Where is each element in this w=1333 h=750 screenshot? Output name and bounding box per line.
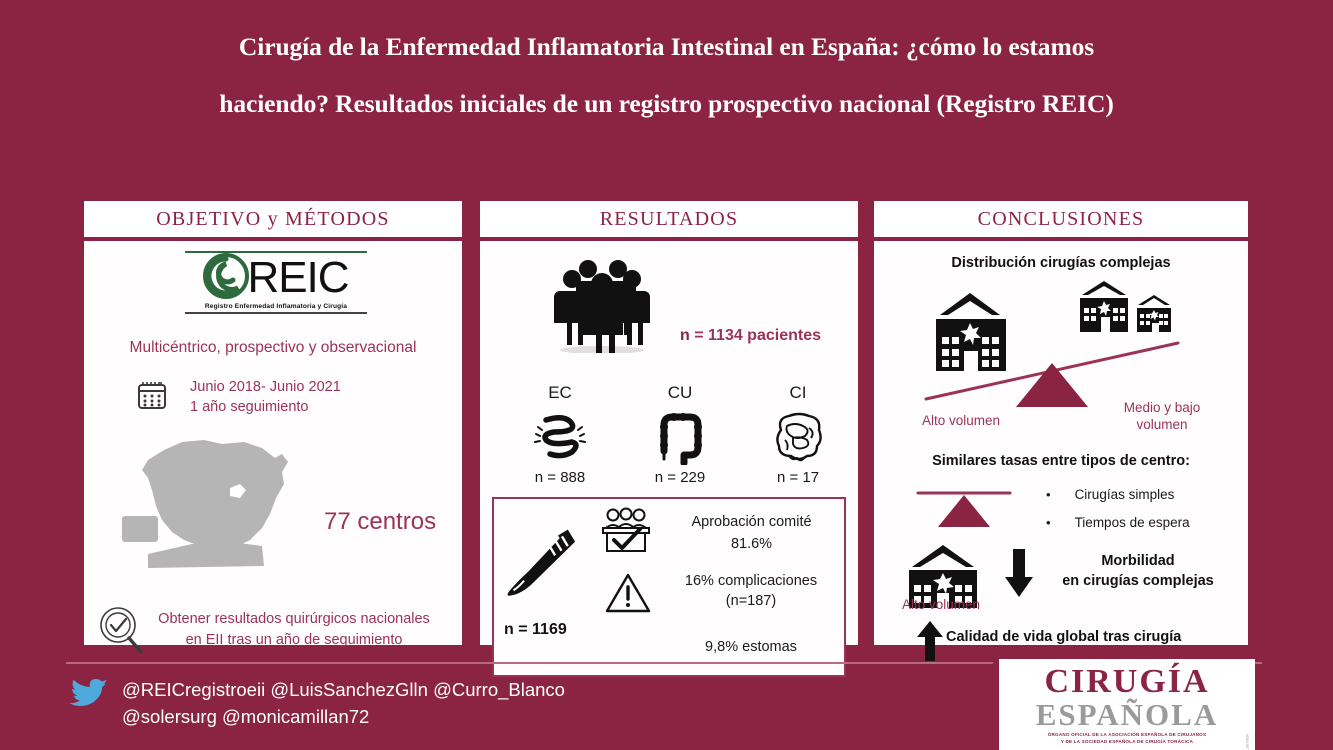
journal-logo-subtitle-1: ÓRGANO OFICIAL DE LA ASOCIACIÓN ESPAÑOLA… [999,732,1255,738]
panel-conclusiones-header: CONCLUSIONES [874,201,1248,241]
committee-approval-line-2: 81.6% [731,536,772,552]
warning-triangle-icon [604,571,652,620]
balanced-seesaw-icon [910,481,1018,534]
diagnosis-cu-label: CU [620,383,740,403]
panel-resultados: RESULTADOS n = [476,197,862,645]
journal-logo: CIRUGÍA ESPAÑOLA ÓRGANO OFICIAL DE LA AS… [993,659,1255,750]
panel-resultados-header: RESULTADOS [480,201,858,241]
diagnosis-ci-label: CI [738,383,858,403]
study-goal-line-1: Obtener resultados quirúrgicos nacionale… [158,611,430,627]
twitter-handles-line-2: @solersurg @monicamillan72 [122,706,369,727]
conclusiones-heading-1: Distribución cirugías complejas [874,255,1248,271]
patients-n-value: = 1134 pacientes [694,327,821,344]
morbidity-text: Morbilidad en cirugías complejas [1038,551,1238,591]
panel-conclusiones-body: Distribución cirugías complejas [874,241,1248,645]
panel-conclusiones-header-label: CONCLUSIONES [978,208,1145,231]
morbidity-line-2: en cirugías complejas [1062,573,1214,589]
study-dates-line-2: 1 año seguimiento [190,399,309,415]
twitter-bird-icon [66,676,110,721]
journal-logo-subtitle-2: Y DE LA SOCIEDAD ESPAÑOLA DE CIRUGÍA TOR… [999,739,1255,745]
page-title-line-1: Cirugía de la Enfermedad Inflamatoria In… [0,18,1333,75]
panel-resultados-header-label: RESULTADOS [600,208,739,231]
complications-text: 16% complicaciones (n=187) [656,571,846,611]
medio-bajo-volumen-label: Medio y bajo volumen [1102,399,1222,433]
study-dates-line-1: Junio 2018- Junio 2021 [190,379,341,395]
list-item: • Cirugías simples [1046,481,1190,509]
panel-conclusiones: CONCLUSIONES Distribución cirugías compl… [870,197,1252,645]
people-group-icon [548,257,656,358]
bullet-dot-icon: • [1046,481,1051,509]
page-title-line-2: haciendo? Resultados iniciales de un reg… [0,75,1333,132]
surgeries-n-value: = 1169 [518,621,567,638]
reic-spiral-icon [203,253,249,304]
panel-resultados-body: n = 1134 pacientes EC n = 888 CU [480,241,858,645]
journal-logo-line-1: CIRUGÍA [999,665,1255,699]
patients-count-label: n = 1134 pacientes [680,327,821,345]
conclusiones-bullet-list: • Cirugías simples • Tiempos de espera [1046,481,1190,537]
study-dates-text: Junio 2018- Junio 2021 1 año seguimiento [190,377,341,417]
reic-logo: REIC Registro Enfermedad Inflamatoria y … [180,251,372,314]
reic-logo-subtitle: Registro Enfermedad Inflamatoria y Cirug… [180,303,372,310]
twitter-handles-line-1: @REICregistroeii @LuisSanchezGlln @Curro… [122,679,565,700]
alto-volumen-label-1: Alto volumen [922,413,1000,428]
alto-volumen-label-2: Alto volumen [902,597,980,612]
panel-objetivo-metodos: OBJETIVO y MÉTODOS REIC Registro Enferme… [80,197,466,645]
diagnosis-ci-n: n = 17 [738,469,858,486]
diagnosis-cu-n: n = 229 [620,469,740,486]
patients-n-glyph: n [680,327,690,344]
reic-logo-wordmark: REIC [247,256,348,300]
study-design-label: Multicéntrico, prospectivo y observacion… [84,339,462,357]
bullet-label-2: Tiempos de espera [1075,509,1190,537]
conclusiones-heading-2: Similares tasas entre tipos de centro: [874,453,1248,469]
intestine-outline-icon [738,407,858,465]
panel-objetivo-body: REIC Registro Enfermedad Inflamatoria y … [84,241,462,645]
committee-approval-line-1: Aprobación comité [691,514,811,530]
reic-logo-bottom-rule [185,312,367,314]
diagnosis-ec: EC n = 888 [500,383,620,486]
centros-count-label: 77 centros [324,508,436,536]
diagnosis-ec-label: EC [500,383,620,403]
study-goal-text: Obtener resultados quirúrgicos nacionale… [134,609,454,651]
journal-logo-side-text: ELSEVIER [1245,734,1250,750]
colon-icon [620,407,740,465]
bullet-label-1: Cirugías simples [1075,481,1175,509]
morbidity-line-1: Morbilidad [1101,553,1174,569]
bullet-dot-icon: • [1046,509,1051,537]
complications-line-1: 16% complicaciones [685,573,817,589]
panel-objetivo-header-label: OBJETIVO y MÉTODOS [156,208,389,231]
list-item: • Tiempos de espera [1046,509,1190,537]
arrow-up-icon [916,619,944,668]
journal-logo-line-2: ESPAÑOLA [999,699,1255,731]
study-dates-row: Junio 2018- Junio 2021 1 año seguimiento [136,377,341,417]
page-title: Cirugía de la Enfermedad Inflamatoria In… [0,18,1333,132]
twitter-handles: @REICregistroeii @LuisSanchezGlln @Curro… [122,676,565,730]
diagnosis-ci: CI n = 17 [738,383,858,486]
calendar-icon [136,379,168,416]
panel-objetivo-header: OBJETIVO y MÉTODOS [84,201,462,241]
arrow-down-icon [1004,547,1034,604]
diagnosis-ec-n: n = 888 [500,469,620,486]
committee-approval-text: Aprobación comité 81.6% [664,511,839,555]
surgeries-n-glyph: n [504,621,514,638]
medio-bajo-line-1: Medio y bajo [1124,400,1201,415]
committee-approval-icon [600,507,652,560]
medio-bajo-line-2: volumen [1136,417,1187,432]
surgery-results-box: n = 1169 [492,497,846,677]
quality-of-life-text: Calidad de vida global tras cirugía [946,629,1181,645]
surgeries-count-label: n = 1169 [504,621,567,639]
twitter-block: @REICregistroeii @LuisSanchezGlln @Curro… [66,676,565,730]
diagnosis-cu: CU n = 229 [620,383,740,486]
scalpel-icon [506,517,582,622]
study-goal-line-2: en EII tras un año de seguimiento [186,632,403,648]
small-intestine-icon [500,407,620,465]
estomas-text: 9,8% estomas [656,639,846,655]
complications-line-2: (n=187) [726,593,776,609]
spain-map-icon [112,436,322,606]
reic-logo-main: REIC [180,254,372,302]
